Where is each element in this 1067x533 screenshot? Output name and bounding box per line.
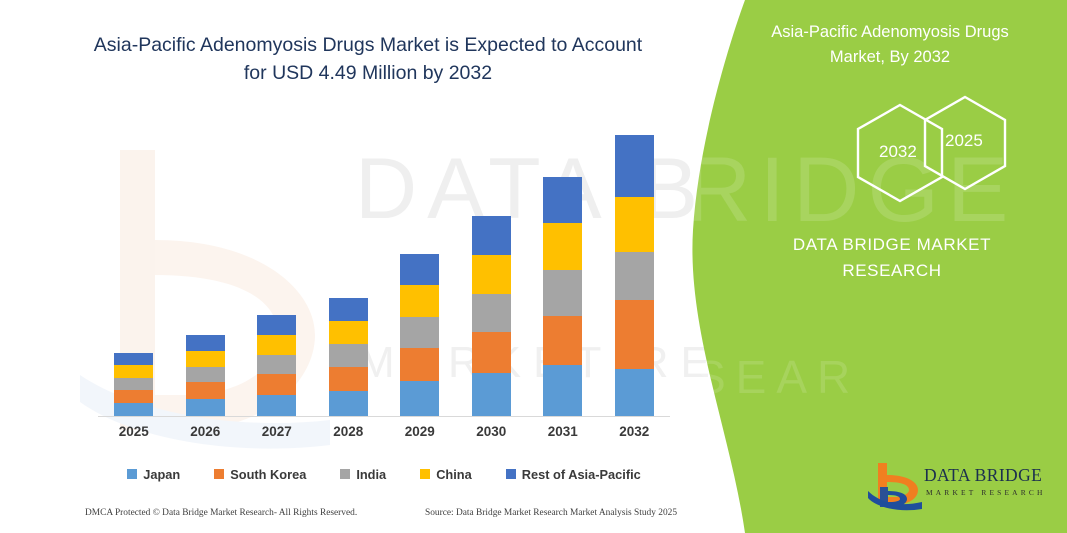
data-bridge-b-logo-icon	[866, 461, 928, 511]
bar-segment-china[interactable]	[114, 365, 153, 378]
bar-segment-japan[interactable]	[615, 369, 654, 417]
bar-segment-china[interactable]	[472, 255, 511, 294]
panel-title-line-2: Market, By 2032	[735, 45, 1045, 70]
legend-label: Japan	[143, 467, 180, 482]
legend-swatch-icon	[214, 469, 224, 479]
footer: DMCA Protected © Data Bridge Market Rese…	[85, 508, 685, 524]
bar-segment-rest-of-asia-pacific[interactable]	[472, 216, 511, 255]
chart-legend: JapanSouth KoreaIndiaChinaRest of Asia-P…	[98, 463, 670, 485]
bar-group-2025[interactable]	[99, 353, 169, 417]
x-tick-2032: 2032	[599, 424, 669, 439]
bar-segment-india[interactable]	[186, 367, 225, 382]
legend-label: South Korea	[230, 467, 306, 482]
bar-segment-rest-of-asia-pacific[interactable]	[257, 315, 296, 335]
panel-title-line-1: Asia-Pacific Adenomyosis Drugs	[735, 20, 1045, 45]
logo-subtitle: MARKET RESEARCH	[926, 488, 1046, 497]
bar-segment-japan[interactable]	[329, 391, 368, 417]
x-tick-2030: 2030	[456, 424, 526, 439]
chart-plot-area	[98, 120, 668, 417]
bar-segment-rest-of-asia-pacific[interactable]	[543, 177, 582, 223]
stacked-bar[interactable]	[114, 353, 153, 417]
bar-group-2028[interactable]	[313, 298, 383, 417]
bar-segment-japan[interactable]	[186, 399, 225, 417]
legend-swatch-icon	[420, 469, 430, 479]
x-tick-2031: 2031	[528, 424, 598, 439]
bar-segment-south-korea[interactable]	[615, 300, 654, 369]
bar-segment-south-korea[interactable]	[114, 390, 153, 403]
bar-segment-rest-of-asia-pacific[interactable]	[186, 335, 225, 351]
bar-segment-south-korea[interactable]	[329, 367, 368, 391]
bar-group-2030[interactable]	[456, 216, 526, 417]
legend-item-india[interactable]: India	[340, 467, 386, 482]
bar-group-2029[interactable]	[385, 254, 455, 417]
bar-segment-rest-of-asia-pacific[interactable]	[329, 298, 368, 321]
x-axis-tick-labels: 20252026202720282029203020312032	[98, 424, 670, 446]
legend-item-japan[interactable]: Japan	[127, 467, 180, 482]
legend-swatch-icon	[340, 469, 350, 479]
x-tick-2027: 2027	[242, 424, 312, 439]
stacked-bar[interactable]	[472, 216, 511, 417]
footer-source: Source: Data Bridge Market Research Mark…	[425, 508, 677, 518]
legend-item-china[interactable]: China	[420, 467, 472, 482]
stacked-bar[interactable]	[329, 298, 368, 417]
x-tick-2025: 2025	[99, 424, 169, 439]
bar-segment-japan[interactable]	[400, 381, 439, 417]
bar-segment-south-korea[interactable]	[543, 316, 582, 365]
bar-segment-south-korea[interactable]	[186, 382, 225, 399]
bar-segment-south-korea[interactable]	[400, 348, 439, 381]
bar-segment-india[interactable]	[114, 378, 153, 390]
bar-group-2032[interactable]	[599, 135, 669, 417]
chart-title-line-1: Asia-Pacific Adenomyosis Drugs Market is…	[58, 32, 678, 60]
bar-segment-india[interactable]	[257, 355, 296, 374]
bar-group-2027[interactable]	[242, 315, 312, 417]
bar-segment-india[interactable]	[329, 344, 368, 367]
chart-title: Asia-Pacific Adenomyosis Drugs Market is…	[58, 32, 678, 87]
bar-segment-japan[interactable]	[472, 373, 511, 417]
stacked-bar[interactable]	[400, 254, 439, 417]
bar-segment-india[interactable]	[472, 294, 511, 332]
x-tick-2026: 2026	[170, 424, 240, 439]
bar-segment-china[interactable]	[186, 351, 225, 367]
legend-label: India	[356, 467, 386, 482]
legend-swatch-icon	[506, 469, 516, 479]
bar-segment-japan[interactable]	[114, 403, 153, 417]
panel-brand-line-2: RESEARCH	[737, 258, 1047, 284]
legend-item-south-korea[interactable]: South Korea	[214, 467, 306, 482]
panel-title: Asia-Pacific Adenomyosis Drugs Market, B…	[735, 20, 1045, 70]
x-axis-line	[98, 416, 670, 417]
x-tick-2029: 2029	[385, 424, 455, 439]
panel-watermark-big: RIDGE	[685, 138, 1016, 243]
bar-segment-india[interactable]	[615, 252, 654, 300]
bar-segment-china[interactable]	[543, 223, 582, 270]
bar-segment-japan[interactable]	[543, 365, 582, 417]
legend-label: Rest of Asia-Pacific	[522, 467, 641, 482]
data-bridge-logo[interactable]: DATA BRIDGE MARKET RESEARCH	[866, 461, 1056, 516]
bar-segment-south-korea[interactable]	[257, 374, 296, 395]
bar-segment-india[interactable]	[543, 270, 582, 316]
legend-item-rest-of-asia-pacific[interactable]: Rest of Asia-Pacific	[506, 467, 641, 482]
legend-label: China	[436, 467, 472, 482]
stacked-bar[interactable]	[257, 315, 296, 417]
bar-segment-china[interactable]	[400, 285, 439, 317]
bar-segment-rest-of-asia-pacific[interactable]	[400, 254, 439, 285]
slide-root: DATA BRIDGE MARKET RESEARCH Asia-Pacific…	[0, 0, 1067, 533]
bar-segment-china[interactable]	[257, 335, 296, 355]
footer-copyright: DMCA Protected © Data Bridge Market Rese…	[85, 508, 357, 518]
stacked-bar[interactable]	[543, 177, 582, 417]
bar-segment-india[interactable]	[400, 317, 439, 348]
x-tick-2028: 2028	[313, 424, 383, 439]
stacked-bar[interactable]	[615, 135, 654, 417]
stacked-bar[interactable]	[186, 335, 225, 417]
bar-segment-south-korea[interactable]	[472, 332, 511, 373]
chart-title-line-2: for USD 4.49 Million by 2032	[58, 60, 678, 88]
bar-segment-china[interactable]	[329, 321, 368, 344]
bar-segment-china[interactable]	[615, 197, 654, 252]
panel-watermark-small: SEAR	[695, 350, 860, 404]
legend-swatch-icon	[127, 469, 137, 479]
bar-segment-rest-of-asia-pacific[interactable]	[615, 135, 654, 197]
bar-group-2031[interactable]	[528, 177, 598, 417]
bar-group-2026[interactable]	[170, 335, 240, 417]
bar-segment-rest-of-asia-pacific[interactable]	[114, 353, 153, 365]
logo-title: DATA BRIDGE	[924, 465, 1042, 486]
bar-segment-japan[interactable]	[257, 395, 296, 417]
green-panel-content: RIDGE SEAR Asia-Pacific Adenomyosis Drug…	[745, 0, 1067, 533]
